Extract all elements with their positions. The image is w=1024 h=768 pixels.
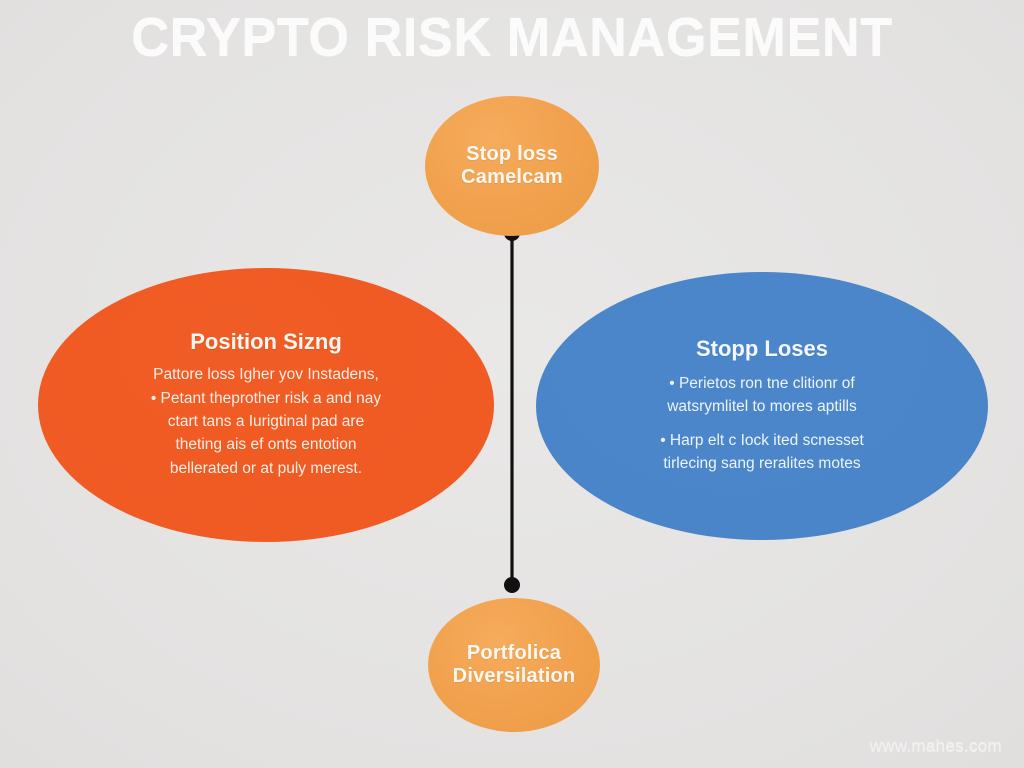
node-position-sizing-line-4: theting ais ef onts entotion bbox=[151, 434, 381, 455]
node-stop-losses-line-3: • Harp elt c Iock ited scnesset bbox=[660, 430, 864, 451]
node-stop-loss-title: Stop loss Camelcam bbox=[461, 143, 563, 189]
node-position-sizing-line-2: • Petant theprother risk a and nay bbox=[151, 388, 381, 409]
node-stop-losses-title: Stopp Loses bbox=[696, 336, 828, 361]
page-title: CRYPTO RISK MANAGEMENT bbox=[15, 6, 1008, 68]
diagram-canvas: CRYPTO RISK MANAGEMENT Stop loss Camelca… bbox=[0, 0, 1024, 768]
node-stop-losses-body: • Perietos ron tne clitionr of watsrymli… bbox=[660, 373, 864, 477]
node-position-sizing-title: Position Sizng bbox=[190, 329, 342, 354]
node-position-sizing-body: Pattore loss Igher yov Instadens, • Peta… bbox=[151, 364, 381, 481]
node-position-sizing-line-5: bellerated or at puly merest. bbox=[151, 458, 381, 479]
node-stop-losses-line-1: • Perietos ron tne clitionr of bbox=[660, 373, 864, 394]
node-stop-loss-title-line-1: Stop loss bbox=[461, 143, 563, 166]
connector-bottom-dot bbox=[504, 577, 520, 593]
node-portfolica-title: Portfolica Diversilation bbox=[453, 642, 576, 688]
node-stop-losses[interactable]: Stopp Loses • Perietos ron tne clitionr … bbox=[536, 272, 988, 540]
node-position-sizing[interactable]: Position Sizng Pattore loss Igher yov In… bbox=[38, 268, 494, 542]
node-stop-loss-camelcam[interactable]: Stop loss Camelcam bbox=[425, 96, 599, 236]
node-stop-losses-line-2: watsrymlitel to mores aptills bbox=[660, 396, 864, 417]
watermark: www.mahes.com bbox=[870, 736, 1002, 756]
node-stop-losses-line-4: tirlecing sang reralites motes bbox=[660, 453, 864, 474]
node-portfolica-title-line-1: Portfolica bbox=[453, 642, 576, 665]
node-stop-loss-title-line-2: Camelcam bbox=[461, 166, 563, 189]
node-position-sizing-line-1: Pattore loss Igher yov Instadens, bbox=[151, 364, 381, 385]
node-portfolica-title-line-2: Diversilation bbox=[453, 665, 576, 688]
node-portfolica-diversilation[interactable]: Portfolica Diversilation bbox=[428, 598, 600, 732]
node-position-sizing-line-3: ctart tans a Iurigtinal pad are bbox=[151, 411, 381, 432]
